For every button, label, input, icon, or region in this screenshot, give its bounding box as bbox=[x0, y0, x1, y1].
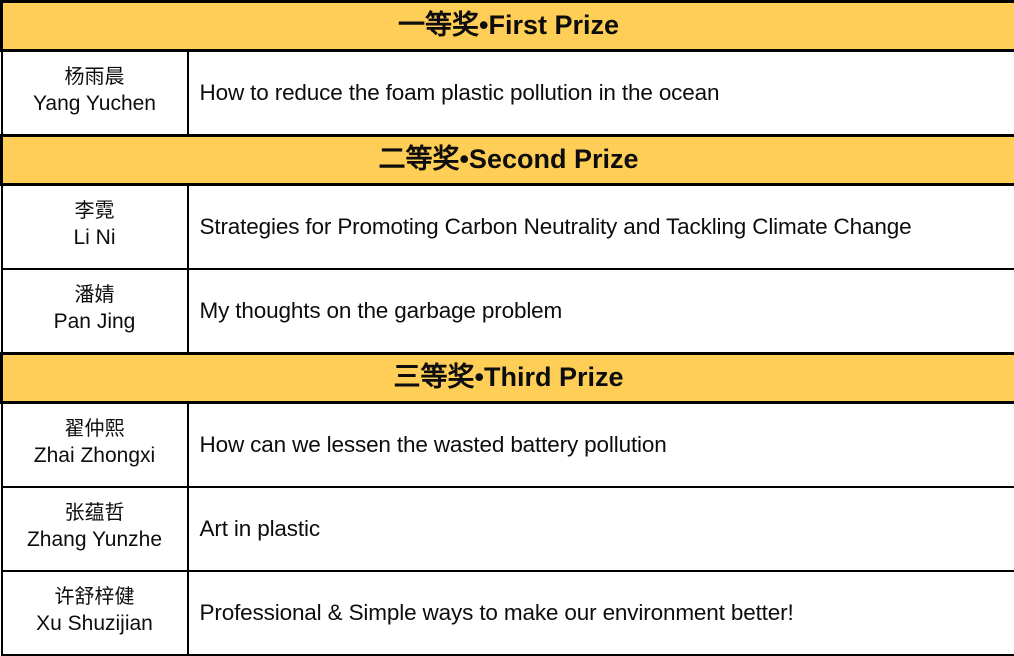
entrant-name-en: Pan Jing bbox=[9, 308, 181, 335]
entry-title: Professional & Simple ways to make our e… bbox=[200, 599, 1011, 627]
entrant-name-cn: 翟仲熙 bbox=[9, 417, 181, 443]
prize-banner-label-third: 三等奖•Third Prize bbox=[3, 363, 1014, 393]
entry-title: Strategies for Promoting Carbon Neutrali… bbox=[200, 213, 1011, 241]
prize-banner-label-second: 二等奖•Second Prize bbox=[3, 145, 1014, 175]
table-row: 杨雨晨 Yang Yuchen How to reduce the foam p… bbox=[2, 51, 1014, 136]
entrant-name-cell: 杨雨晨 Yang Yuchen bbox=[2, 51, 188, 136]
prize-banner-cell-second: 二等奖•Second Prize bbox=[2, 136, 1014, 185]
entrant-name-cn: 潘婧 bbox=[9, 283, 181, 309]
entrant-name-cell: 许舒梓健 Xu Shuzijian bbox=[2, 571, 188, 655]
table-row: 翟仲熙 Zhai Zhongxi How can we lessen the w… bbox=[2, 403, 1014, 488]
prize-banner-row-third: 三等奖•Third Prize bbox=[2, 354, 1014, 403]
entry-title: How can we lessen the wasted battery pol… bbox=[200, 431, 1011, 459]
entrant-name-cn: 许舒梓健 bbox=[9, 585, 181, 611]
entrant-name-cn: 张蕴哲 bbox=[9, 501, 181, 527]
entrant-name-en: Zhai Zhongxi bbox=[9, 442, 181, 469]
award-table-body: 一等奖•First Prize 杨雨晨 Yang Yuchen How to r… bbox=[2, 2, 1014, 656]
entry-title: How to reduce the foam plastic pollution… bbox=[200, 79, 1011, 107]
prize-banner-row-second: 二等奖•Second Prize bbox=[2, 136, 1014, 185]
prize-banner-label-first: 一等奖•First Prize bbox=[3, 11, 1014, 41]
entry-title: My thoughts on the garbage problem bbox=[200, 297, 1011, 325]
entrant-name-cell: 李霓 Li Ni bbox=[2, 185, 188, 270]
entrant-name-cn: 李霓 bbox=[9, 199, 181, 225]
table-row: 许舒梓健 Xu Shuzijian Professional & Simple … bbox=[2, 571, 1014, 655]
entrant-name-cell: 翟仲熙 Zhai Zhongxi bbox=[2, 403, 188, 488]
entrant-name-en: Li Ni bbox=[9, 224, 181, 251]
prize-banner-cell-first: 一等奖•First Prize bbox=[2, 2, 1014, 51]
entry-title-cell: How can we lessen the wasted battery pol… bbox=[188, 403, 1014, 488]
entry-title: Art in plastic bbox=[200, 515, 1011, 543]
table-row: 李霓 Li Ni Strategies for Promoting Carbon… bbox=[2, 185, 1014, 270]
prize-banner-cell-third: 三等奖•Third Prize bbox=[2, 354, 1014, 403]
entrant-name-cell: 张蕴哲 Zhang Yunzhe bbox=[2, 487, 188, 571]
entrant-name-en: Yang Yuchen bbox=[9, 90, 181, 117]
entrant-name-en: Xu Shuzijian bbox=[9, 610, 181, 637]
entrant-name-cn: 杨雨晨 bbox=[9, 65, 181, 91]
entrant-name-en: Zhang Yunzhe bbox=[9, 526, 181, 553]
award-winners-table: 一等奖•First Prize 杨雨晨 Yang Yuchen How to r… bbox=[0, 0, 1014, 656]
table-row: 潘婧 Pan Jing My thoughts on the garbage p… bbox=[2, 269, 1014, 354]
entry-title-cell: Art in plastic bbox=[188, 487, 1014, 571]
entry-title-cell: My thoughts on the garbage problem bbox=[188, 269, 1014, 354]
prize-banner-row-first: 一等奖•First Prize bbox=[2, 2, 1014, 51]
table-row: 张蕴哲 Zhang Yunzhe Art in plastic bbox=[2, 487, 1014, 571]
entry-title-cell: How to reduce the foam plastic pollution… bbox=[188, 51, 1014, 136]
entry-title-cell: Strategies for Promoting Carbon Neutrali… bbox=[188, 185, 1014, 270]
entrant-name-cell: 潘婧 Pan Jing bbox=[2, 269, 188, 354]
entry-title-cell: Professional & Simple ways to make our e… bbox=[188, 571, 1014, 655]
